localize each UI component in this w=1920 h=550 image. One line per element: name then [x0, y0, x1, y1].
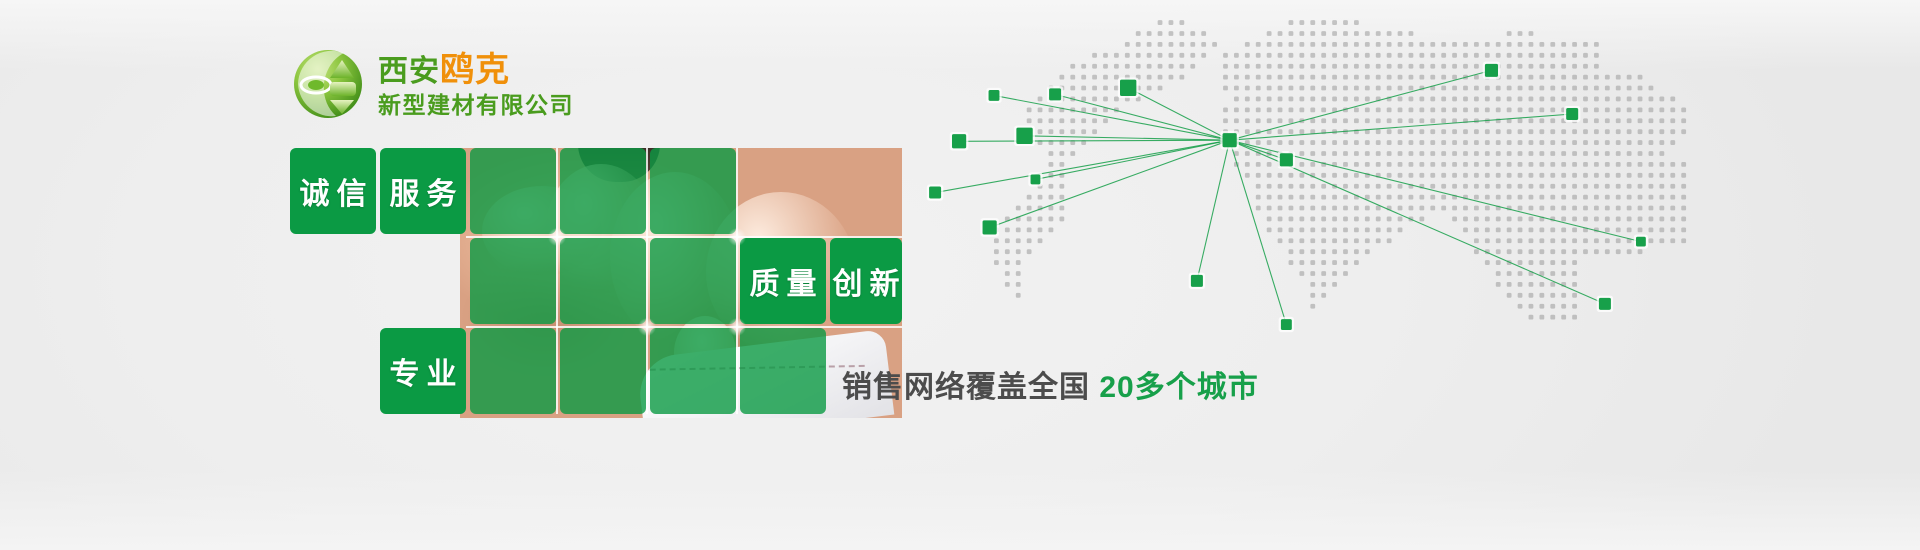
map-dot — [1267, 118, 1272, 123]
map-dot — [1649, 238, 1654, 243]
map-dot — [1267, 184, 1272, 189]
map-city-node[interactable] — [1636, 237, 1646, 247]
map-dot — [1463, 53, 1468, 58]
map-dot — [1321, 282, 1326, 287]
map-dot — [1659, 162, 1664, 167]
map-dot — [1539, 238, 1544, 243]
map-city-node[interactable] — [989, 90, 1000, 101]
map-dot — [1299, 162, 1304, 167]
map-dot — [1496, 97, 1501, 102]
map-dot — [1409, 75, 1414, 80]
map-dot — [1550, 118, 1555, 123]
map-dot — [1267, 107, 1272, 112]
map-dot — [1092, 86, 1097, 91]
map-dot — [1005, 238, 1010, 243]
map-dot — [1278, 184, 1283, 189]
map-dot — [1376, 140, 1381, 145]
map-dot — [1321, 97, 1326, 102]
map-dot — [1147, 86, 1152, 91]
map-dot — [1169, 64, 1174, 69]
map-dot — [1354, 140, 1359, 145]
map-dot — [1376, 206, 1381, 211]
map-dot — [1561, 195, 1566, 200]
map-dot — [1670, 195, 1675, 200]
map-dot — [1616, 118, 1621, 123]
map-dot — [1419, 140, 1424, 145]
map-dot — [1234, 64, 1239, 69]
map-dot — [1441, 206, 1446, 211]
map-dot — [1059, 206, 1064, 211]
map-dot — [1343, 173, 1348, 178]
map-dot — [1649, 217, 1654, 222]
map-dot — [1016, 249, 1021, 254]
map-dot — [1310, 195, 1315, 200]
map-dot — [1376, 118, 1381, 123]
map-dot — [1310, 140, 1315, 145]
map-dot — [1332, 217, 1337, 222]
map-dot — [1059, 195, 1064, 200]
map-dot — [1245, 151, 1250, 156]
map-dot — [1365, 195, 1370, 200]
map-dot — [1321, 173, 1326, 178]
map-dot — [1267, 162, 1272, 167]
map-dot — [1310, 75, 1315, 80]
map-dot — [1289, 53, 1294, 58]
map-dot — [1485, 184, 1490, 189]
map-dot — [1561, 260, 1566, 265]
map-dot — [1409, 173, 1414, 178]
map-dot — [1627, 162, 1632, 167]
value-tile-professional[interactable]: 专业 — [380, 328, 466, 414]
map-dot — [1583, 151, 1588, 156]
map-dot — [1409, 86, 1414, 91]
map-dot — [1627, 217, 1632, 222]
map-dot — [1223, 118, 1228, 123]
map-city-node[interactable] — [1280, 153, 1293, 166]
map-dot — [1049, 129, 1054, 134]
map-dot — [1463, 217, 1468, 222]
map-dot — [1049, 118, 1054, 123]
map-dot — [1594, 107, 1599, 112]
map-dot — [1419, 64, 1424, 69]
map-dot — [1059, 129, 1064, 134]
map-dot — [1474, 53, 1479, 58]
map-dot — [1049, 217, 1054, 222]
map-dot — [1485, 238, 1490, 243]
map-dot — [1550, 173, 1555, 178]
map-dot — [994, 249, 999, 254]
map-city-node[interactable] — [983, 220, 997, 234]
map-city-node[interactable] — [1223, 133, 1237, 147]
map-dot — [1485, 97, 1490, 102]
map-dot — [1299, 42, 1304, 47]
map-dot — [1485, 151, 1490, 156]
map-dot — [1605, 249, 1610, 254]
map-dot — [1496, 195, 1501, 200]
map-dot — [1518, 86, 1523, 91]
map-dot — [1572, 151, 1577, 156]
map-dot — [1354, 107, 1359, 112]
map-dot — [1398, 184, 1403, 189]
map-city-node[interactable] — [1031, 175, 1041, 185]
map-dot — [1561, 227, 1566, 232]
map-dot — [1147, 31, 1152, 36]
map-dot — [1158, 64, 1163, 69]
map-city-node[interactable] — [1566, 108, 1578, 120]
map-dot — [1659, 107, 1664, 112]
map-connection-line — [1035, 140, 1229, 179]
map-city-node[interactable] — [1485, 64, 1498, 77]
map-dot — [1310, 293, 1315, 298]
map-dot — [1365, 162, 1370, 167]
bottom-fade-band — [0, 470, 1920, 550]
map-city-node[interactable] — [952, 134, 966, 148]
map-dot — [1387, 118, 1392, 123]
map-city-node[interactable] — [1049, 88, 1061, 100]
map-dot — [1310, 53, 1315, 58]
map-dot — [1081, 107, 1086, 112]
map-dot — [1332, 260, 1337, 265]
map-dot — [1430, 42, 1435, 47]
map-dot — [1659, 217, 1664, 222]
map-dot — [1430, 75, 1435, 80]
map-dot — [1507, 64, 1512, 69]
map-dot — [1419, 42, 1424, 47]
map-dot — [1627, 206, 1632, 211]
map-dot — [1539, 118, 1544, 123]
map-dot — [1289, 86, 1294, 91]
map-dot — [1474, 64, 1479, 69]
map-dot — [1332, 31, 1337, 36]
map-dot — [1572, 249, 1577, 254]
map-dot — [1005, 271, 1010, 276]
map-dot — [1572, 206, 1577, 211]
map-dot — [1539, 304, 1544, 309]
map-dot — [1561, 184, 1566, 189]
map-dot — [1496, 217, 1501, 222]
map-dot — [1441, 140, 1446, 145]
mosaic-tile-blank-9 — [650, 328, 736, 414]
map-dot — [1518, 129, 1523, 134]
mosaic-tile-blank-5 — [560, 238, 646, 324]
map-dot — [1550, 260, 1555, 265]
map-dot — [1594, 97, 1599, 102]
map-dot — [1616, 184, 1621, 189]
map-dot — [1332, 249, 1337, 254]
map-dot — [1561, 151, 1566, 156]
map-dot — [1583, 195, 1588, 200]
map-dot — [1572, 42, 1577, 47]
map-dot — [1605, 86, 1610, 91]
map-dot — [1223, 107, 1228, 112]
map-dot — [1343, 151, 1348, 156]
map-dot — [1627, 86, 1632, 91]
map-dot — [1583, 249, 1588, 254]
map-dot — [1267, 53, 1272, 58]
map-dot — [1638, 140, 1643, 145]
map-dot — [1321, 118, 1326, 123]
map-dot — [1649, 162, 1654, 167]
map-dot — [1310, 206, 1315, 211]
map-dot — [1354, 260, 1359, 265]
map-dot — [1529, 217, 1534, 222]
map-city-node[interactable] — [1016, 128, 1032, 144]
map-dot — [1114, 97, 1119, 102]
map-dot — [1136, 42, 1141, 47]
map-dot — [1550, 304, 1555, 309]
map-dot — [1670, 162, 1675, 167]
map-dot — [1190, 64, 1195, 69]
map-dot — [1103, 75, 1108, 80]
map-dot — [1365, 184, 1370, 189]
map-dot — [1485, 107, 1490, 112]
map-dot — [1081, 97, 1086, 102]
map-dot — [1605, 151, 1610, 156]
map-dot — [1289, 97, 1294, 102]
map-dot — [1059, 217, 1064, 222]
map-dot — [1583, 42, 1588, 47]
map-dot — [1572, 184, 1577, 189]
map-dot — [1638, 249, 1643, 254]
map-dot — [1485, 129, 1490, 134]
map-dot — [1474, 238, 1479, 243]
map-city-node[interactable] — [1281, 319, 1292, 330]
map-dot — [1529, 184, 1534, 189]
map-dot — [1387, 129, 1392, 134]
map-dot — [1332, 282, 1337, 287]
map-dot — [1321, 151, 1326, 156]
company-name-line1: 西安鸥克 — [378, 53, 574, 87]
map-dot — [1583, 64, 1588, 69]
map-dot — [1278, 86, 1283, 91]
value-tile-integrity[interactable]: 诚信 — [290, 148, 376, 234]
map-dot — [1550, 293, 1555, 298]
map-dot — [1332, 53, 1337, 58]
map-dot — [1289, 31, 1294, 36]
map-dot — [1550, 206, 1555, 211]
map-dot — [1267, 217, 1272, 222]
map-dot — [1049, 107, 1054, 112]
value-tile-service[interactable]: 服务 — [380, 148, 466, 234]
map-dot — [1092, 107, 1097, 112]
map-dot — [1550, 162, 1555, 167]
map-dot — [1529, 293, 1534, 298]
map-dot — [1409, 206, 1414, 211]
map-dot — [1496, 238, 1501, 243]
map-dot — [1398, 107, 1403, 112]
map-dot — [1387, 195, 1392, 200]
map-dot — [1561, 53, 1566, 58]
map-dot — [1430, 64, 1435, 69]
map-dot — [1310, 184, 1315, 189]
map-dot — [1321, 238, 1326, 243]
map-dot — [1474, 249, 1479, 254]
map-dot — [1289, 260, 1294, 265]
map-dot — [1365, 217, 1370, 222]
map-dot — [1518, 217, 1523, 222]
map-dot — [1103, 118, 1108, 123]
map-dot — [1332, 195, 1337, 200]
map-dot — [1659, 151, 1664, 156]
map-dot — [1561, 64, 1566, 69]
map-dot — [1278, 129, 1283, 134]
map-dot — [1638, 75, 1643, 80]
map-dot — [1343, 195, 1348, 200]
map-dot — [1507, 31, 1512, 36]
map-dot — [1299, 86, 1304, 91]
map-dot — [1223, 53, 1228, 58]
map-dot — [1289, 195, 1294, 200]
map-dot — [1365, 107, 1370, 112]
map-dot — [1289, 238, 1294, 243]
map-dot — [1463, 129, 1468, 134]
map-dot — [1507, 227, 1512, 232]
map-dot — [1681, 217, 1686, 222]
map-dot — [1561, 86, 1566, 91]
map-dot — [1583, 129, 1588, 134]
map-connection-line — [1055, 94, 1230, 140]
mosaic-tile-blank-8 — [560, 328, 646, 414]
map-city-node[interactable] — [929, 187, 941, 199]
map-dot — [1070, 75, 1075, 80]
map-dot — [1616, 86, 1621, 91]
map-dot — [1343, 260, 1348, 265]
map-dot — [1616, 206, 1621, 211]
map-dot — [1256, 206, 1261, 211]
map-dot — [1539, 129, 1544, 134]
map-dot — [1245, 173, 1250, 178]
map-dot — [1387, 184, 1392, 189]
map-dot — [1496, 227, 1501, 232]
map-dot — [1267, 140, 1272, 145]
map-dot — [1659, 227, 1664, 232]
map-dot — [1594, 86, 1599, 91]
map-dot — [1299, 238, 1304, 243]
map-dot — [1485, 42, 1490, 47]
map-dot — [1616, 151, 1621, 156]
mosaic-gridline — [736, 148, 738, 414]
map-dot — [1507, 217, 1512, 222]
map-city-node[interactable] — [1599, 298, 1611, 310]
map-dot — [1441, 75, 1446, 80]
map-dot — [1354, 162, 1359, 167]
map-dot — [1485, 140, 1490, 145]
map-dot — [1649, 86, 1654, 91]
map-dot — [1398, 217, 1403, 222]
map-dot — [1529, 260, 1534, 265]
map-dot — [1016, 260, 1021, 265]
map-dot — [1496, 42, 1501, 47]
map-dot — [1572, 97, 1577, 102]
map-dot — [1529, 315, 1534, 320]
map-dot — [1027, 249, 1032, 254]
map-dot — [1299, 249, 1304, 254]
map-dot — [1125, 42, 1130, 47]
map-dot — [1474, 206, 1479, 211]
map-dot — [1638, 129, 1643, 134]
map-dot — [1398, 118, 1403, 123]
map-dot — [1638, 217, 1643, 222]
map-dot — [1474, 151, 1479, 156]
map-dot — [1539, 64, 1544, 69]
map-dot — [1430, 184, 1435, 189]
map-dot — [1572, 260, 1577, 265]
map-dot — [1147, 75, 1152, 80]
map-dot — [1670, 206, 1675, 211]
map-dot — [1616, 173, 1621, 178]
map-dot — [1496, 184, 1501, 189]
map-dot — [1583, 86, 1588, 91]
map-dot — [1059, 118, 1064, 123]
map-dot — [1507, 184, 1512, 189]
map-dot — [1550, 195, 1555, 200]
map-dot — [1605, 173, 1610, 178]
map-dot — [1572, 86, 1577, 91]
map-dot — [1572, 227, 1577, 232]
map-dot — [1038, 238, 1043, 243]
map-dot — [1027, 107, 1032, 112]
map-dot — [1158, 20, 1163, 25]
map-dot — [1485, 217, 1490, 222]
map-dot — [1321, 64, 1326, 69]
map-dot — [1354, 75, 1359, 80]
map-dot — [1572, 315, 1577, 320]
map-dot — [1038, 227, 1043, 232]
map-dot — [1332, 206, 1337, 211]
map-dot — [1681, 162, 1686, 167]
map-dot — [1529, 206, 1534, 211]
map-dot — [1201, 42, 1206, 47]
map-dot — [1605, 162, 1610, 167]
map-dot — [1496, 151, 1501, 156]
map-dot — [1365, 42, 1370, 47]
map-dot — [1049, 184, 1054, 189]
map-dot — [1638, 86, 1643, 91]
map-dot — [1649, 195, 1654, 200]
map-dot — [1289, 206, 1294, 211]
map-dot — [1049, 227, 1054, 232]
map-dot — [1354, 118, 1359, 123]
map-dot — [1627, 107, 1632, 112]
map-dot — [1452, 173, 1457, 178]
map-dot — [1059, 75, 1064, 80]
map-dot — [1518, 260, 1523, 265]
map-dot — [1310, 31, 1315, 36]
map-dot — [1398, 64, 1403, 69]
map-dot — [1136, 64, 1141, 69]
map-dot — [1343, 118, 1348, 123]
company-logo[interactable]: 西安鸥克 新型建材有限公司 — [292, 48, 574, 120]
map-dot — [1321, 260, 1326, 265]
map-dot — [1256, 107, 1261, 112]
map-dot — [1409, 162, 1414, 167]
map-dot — [1627, 129, 1632, 134]
map-dot — [1267, 173, 1272, 178]
map-dot — [1670, 173, 1675, 178]
map-city-node[interactable] — [1191, 275, 1203, 287]
map-city-node[interactable] — [1120, 80, 1136, 96]
map-dot — [1539, 173, 1544, 178]
map-dot — [1561, 249, 1566, 254]
map-dot — [1518, 238, 1523, 243]
map-dot — [1430, 118, 1435, 123]
map-dot — [1365, 86, 1370, 91]
map-dot — [1169, 31, 1174, 36]
map-dot — [1267, 86, 1272, 91]
map-dot — [1387, 151, 1392, 156]
map-dot — [1659, 140, 1664, 145]
map-dot — [1496, 162, 1501, 167]
